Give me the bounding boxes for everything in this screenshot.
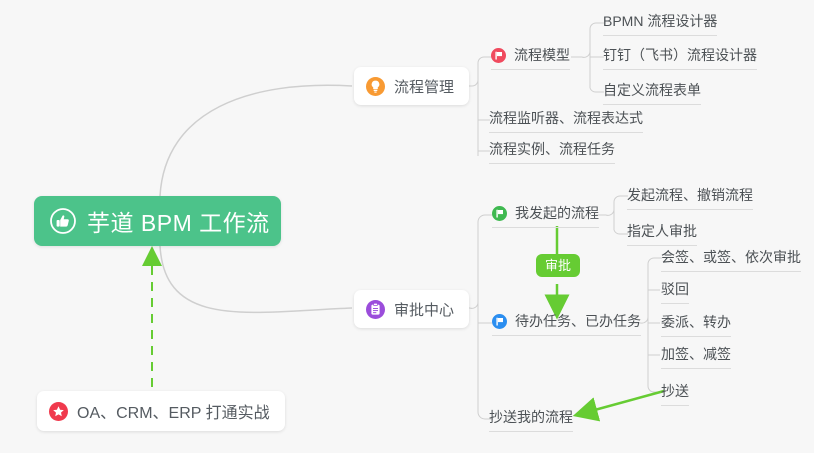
branch-label: 审批中心 <box>394 299 454 320</box>
mindmap-canvas: 芋道 BPM 工作流 流程管理 流程模型 BPMN 流程设计器 钉钉（飞书）流程 <box>0 0 814 453</box>
node-label: 流程模型 <box>514 45 570 65</box>
leaf-label: BPMN 流程设计器 <box>603 11 717 31</box>
root-label: 芋道 BPM 工作流 <box>87 204 270 238</box>
leaf-instance-task[interactable]: 流程实例、流程任务 <box>489 139 615 164</box>
leaf-chaosong-wo-de-liucheng[interactable]: 抄送我的流程 <box>489 407 573 432</box>
leaf-zhidingren-shenpi[interactable]: 指定人审批 <box>627 221 697 246</box>
flag-icon <box>492 314 507 329</box>
annotation-chip-shenpi: 审批 <box>536 254 580 277</box>
node-liucheng-moxing[interactable]: 流程模型 <box>491 45 570 70</box>
leaf-label: 会签、或签、依次审批 <box>661 247 801 267</box>
branch-label: 流程管理 <box>394 76 454 97</box>
leaf-label: 驳回 <box>661 279 689 299</box>
star-icon <box>49 402 68 421</box>
leaf-bohui[interactable]: 驳回 <box>661 279 689 304</box>
node-daiban-yiban-renwu[interactable]: 待办任务、已办任务 <box>492 311 641 336</box>
thumbs-up-icon <box>50 208 76 234</box>
branch-node-shenpi-zhongxin[interactable]: 审批中心 <box>354 290 469 328</box>
root-node[interactable]: 芋道 BPM 工作流 <box>34 196 281 246</box>
leaf-chaosong[interactable]: 抄送 <box>661 381 689 406</box>
leaf-label: 流程实例、流程任务 <box>489 139 615 159</box>
leaf-listener-expression[interactable]: 流程监听器、流程表达式 <box>489 108 643 133</box>
node-label: 待办任务、已办任务 <box>515 311 641 331</box>
leaf-label: 加签、减签 <box>661 344 731 364</box>
floating-node-oa-crm-erp[interactable]: OA、CRM、ERP 打通实战 <box>37 391 285 431</box>
node-label: 我发起的流程 <box>515 203 599 223</box>
leaf-label: 抄送我的流程 <box>489 407 573 427</box>
lightbulb-icon <box>366 77 385 96</box>
leaf-dingtalk-feishu-designer[interactable]: 钉钉（飞书）流程设计器 <box>603 45 757 70</box>
flag-icon <box>491 48 506 63</box>
node-wo-faqi-de-liucheng[interactable]: 我发起的流程 <box>492 203 599 228</box>
leaf-bpmn-designer[interactable]: BPMN 流程设计器 <box>603 11 717 36</box>
leaf-label: 钉钉（飞书）流程设计器 <box>603 45 757 65</box>
leaf-custom-form[interactable]: 自定义流程表单 <box>603 80 701 105</box>
leaf-label: 流程监听器、流程表达式 <box>489 108 643 128</box>
leaf-label: 指定人审批 <box>627 221 697 241</box>
leaf-label: 抄送 <box>661 381 689 401</box>
leaf-faqi-chexiao[interactable]: 发起流程、撤销流程 <box>627 185 753 210</box>
floating-node-label: OA、CRM、ERP 打通实战 <box>77 399 270 423</box>
flag-icon <box>492 206 507 221</box>
leaf-label: 委派、转办 <box>661 312 731 332</box>
leaf-weipai-zhuanban[interactable]: 委派、转办 <box>661 312 731 337</box>
leaf-label: 发起流程、撤销流程 <box>627 185 753 205</box>
leaf-label: 自定义流程表单 <box>603 80 701 100</box>
leaf-huiqian-huoqian[interactable]: 会签、或签、依次审批 <box>661 247 801 272</box>
clipboard-icon <box>366 300 385 319</box>
leaf-jiaqian-jianqian[interactable]: 加签、减签 <box>661 344 731 369</box>
branch-node-liucheng-guanli[interactable]: 流程管理 <box>354 67 469 105</box>
